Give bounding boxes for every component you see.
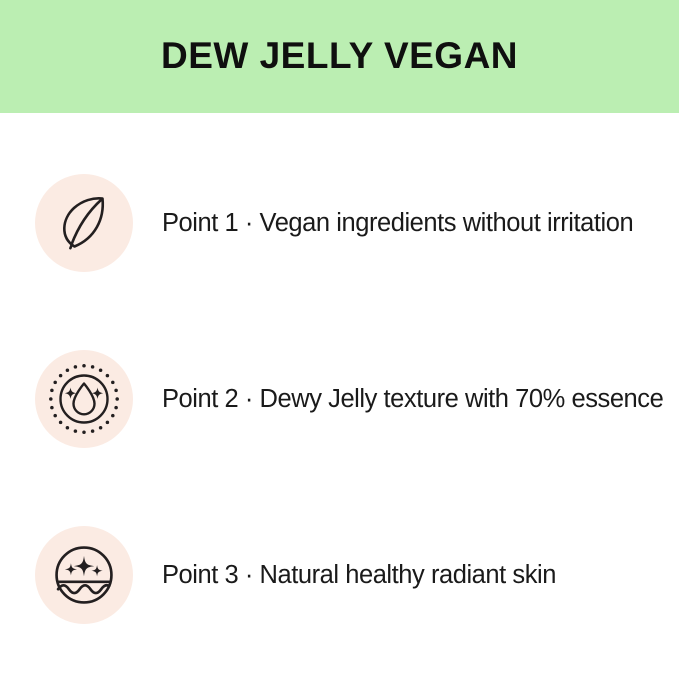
list-item-label: Point 2 · Dewy Jelly texture with 70% es… bbox=[162, 384, 679, 415]
list-item: Point 2 · Dewy Jelly texture with 70% es… bbox=[0, 349, 679, 449]
feature-points-list: Point 1 · Vegan ingredients without irri… bbox=[0, 113, 679, 679]
list-item-label: Point 1 · Vegan ingredients without irri… bbox=[162, 208, 679, 239]
header-band: DEW JELLY VEGAN bbox=[0, 0, 679, 113]
page-title: DEW JELLY VEGAN bbox=[161, 37, 518, 74]
list-item: Point 1 · Vegan ingredients without irri… bbox=[0, 173, 679, 273]
radiant-skin-icon-badge bbox=[35, 526, 133, 624]
sparkle-group bbox=[65, 388, 103, 399]
leaf-icon-badge bbox=[35, 174, 133, 272]
radiant-skin-icon bbox=[49, 540, 119, 610]
leaf-icon bbox=[47, 186, 121, 260]
water-drop-sparkle-icon bbox=[47, 362, 121, 436]
sparkle-group bbox=[65, 556, 103, 576]
list-item-label: Point 3 · Natural healthy radiant skin bbox=[162, 560, 679, 591]
product-feature-card: DEW JELLY VEGAN Point 1 · Vegan ingredie… bbox=[0, 0, 679, 679]
water-drop-sparkle-icon-badge bbox=[35, 350, 133, 448]
list-item: Point 3 · Natural healthy radiant skin bbox=[0, 525, 679, 625]
